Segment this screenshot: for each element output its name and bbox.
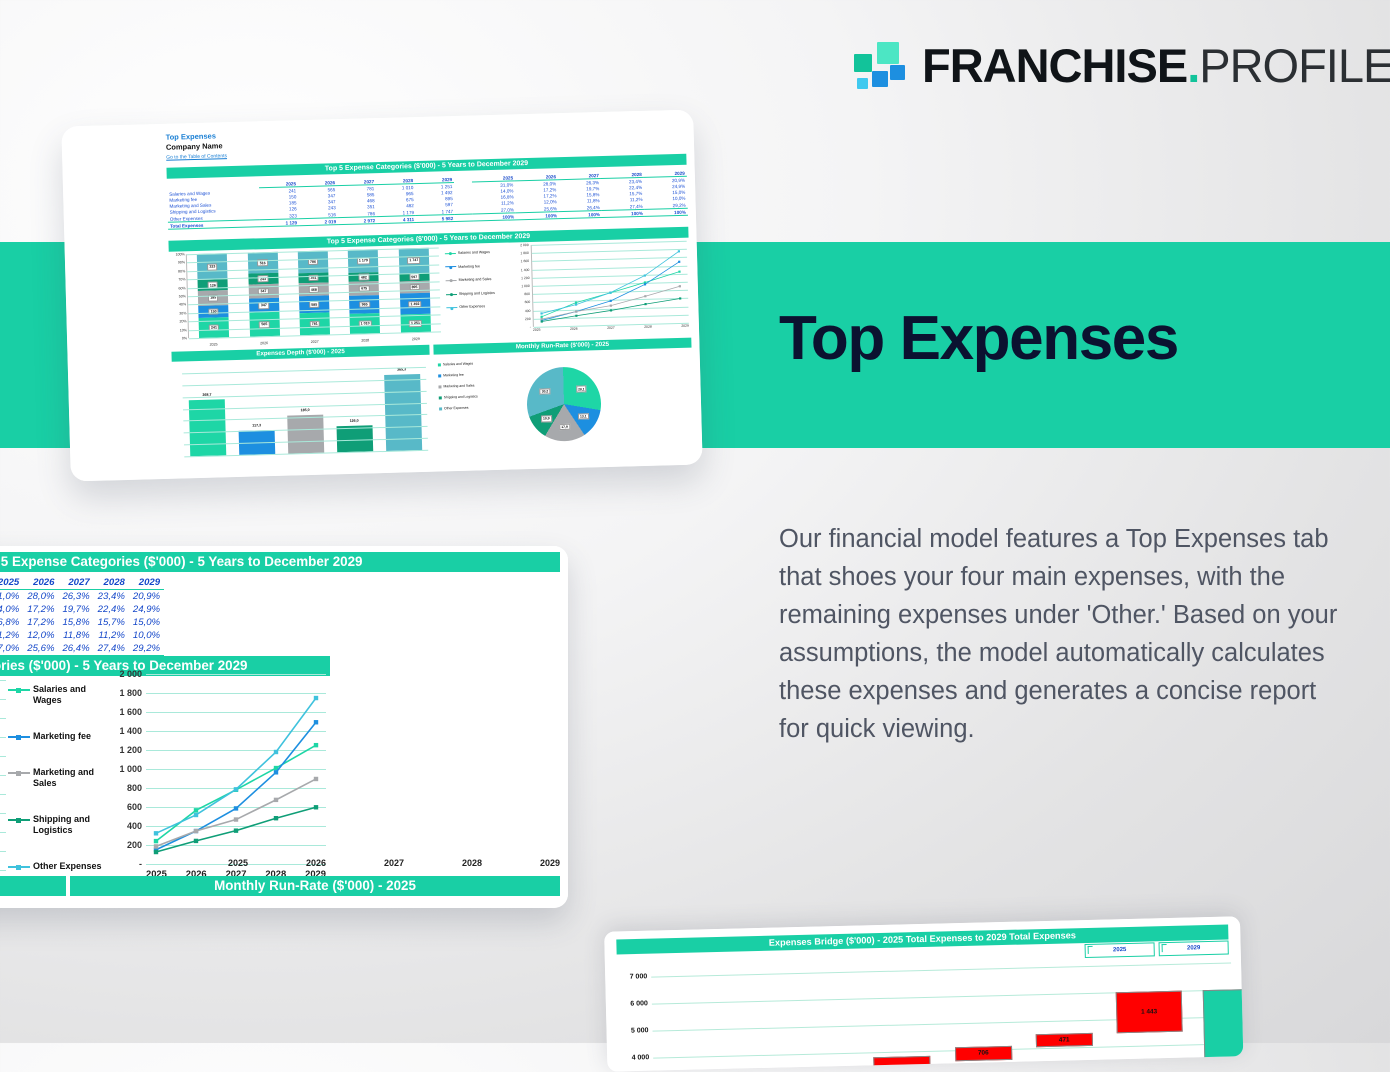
screenshot-card-expense-detail: Top 5 Expense Categories ($'000) - 5 Yea… (0, 546, 568, 908)
footer-year-row: 20252026202720282029 (228, 858, 560, 868)
banner-expenses-depth-b: ses Depth ($'000) - 2025 (0, 876, 66, 896)
bridge-y-axis: 7 0006 0005 0004 000 (613, 969, 649, 1072)
bridge-bar (1203, 988, 1244, 1059)
depth-plot-area: 268,7117,3185,0126,0365,3 (182, 367, 428, 457)
line-legend-b: Salaries and WagesMarketing feeMarketing… (8, 684, 108, 897)
pie-slice-label: 28,1 (576, 386, 587, 393)
toc-link[interactable]: Go to the Table of Contents (166, 153, 227, 161)
bridge-plot-area: 7064711 443 (651, 954, 1233, 1070)
legend-item: Marketing fee (445, 263, 511, 269)
chart-monthly-run-rate-pie: Salaries and WagesMarketing feeMarketing… (434, 352, 694, 454)
chart-stacked-b: 7863514685857811 1794826759651 0101 7475… (0, 680, 6, 892)
pie-legend-item: Shipping and Logistics (439, 394, 499, 400)
legend-item-b: Salaries and Wages (8, 684, 108, 706)
logo-dot: . (1187, 39, 1199, 92)
pie-legend-item: Other Expenses (439, 405, 499, 411)
logo-light-text: PROFILES (1199, 39, 1390, 92)
bridge-bar: 471 (1036, 1033, 1093, 1047)
pie-legend: Salaries and WagesMarketing feeMarketing… (438, 361, 499, 418)
legend-item: Marketing and Sales (446, 277, 512, 283)
pie-slice-label: 13,1 (578, 413, 589, 420)
pie-legend-item: Marketing and Sales (438, 383, 498, 389)
page-title: Top Expenses (779, 308, 1178, 370)
pie-graphic: 28,113,117,910,930,2 (526, 366, 602, 442)
legend-item-b: Other Expenses (8, 861, 108, 872)
chart-expenses-depth: 268,7117,3185,0126,0365,3 (172, 359, 432, 461)
legend-item: Other Expenses (446, 304, 512, 310)
bridge-bar (874, 1056, 931, 1067)
body-description: Our financial model features a Top Expen… (779, 520, 1349, 748)
line-plot-a (531, 241, 689, 327)
line-plot-b (146, 674, 326, 864)
stacked-plot-area: 3231261851502415162433473475657863514685… (186, 247, 441, 338)
pie-slice-label: 17,9 (559, 424, 570, 431)
expense-table-a: 2025202620272028202920252026202720282029… (167, 170, 688, 230)
logo-bold-text: FRANCHISE (922, 39, 1187, 92)
line-legend-a: Salaries and WagesMarketing feeMarketing… (445, 249, 513, 319)
sheet-title: Top Expenses Company Name (166, 131, 223, 153)
legend-item-b: Marketing and Sales (8, 767, 108, 789)
legend-item-b: Marketing fee (8, 731, 108, 742)
depth-bar: 185,0 (287, 414, 324, 453)
line-y-axis-b: 2 0001 8001 6001 4001 2001 0008006004002… (104, 674, 142, 864)
banner-expense-categories-b2: Top 5 Expense Categories ($'000) - 5 Yea… (0, 656, 330, 676)
pie-legend-item: Salaries and Wages (438, 361, 498, 367)
banner-monthly-run-rate-b: Monthly Run-Rate ($'000) - 2025 (70, 876, 560, 896)
chart-stacked-100: 100%90%80%70%60%50%40%30%20%10%0% 323126… (169, 247, 441, 347)
logo-squares-icon (852, 38, 904, 92)
legend-item: Salaries and Wages (445, 249, 511, 255)
legend-item: Shipping and Logistics (446, 290, 512, 296)
pie-slice-label: 10,9 (541, 415, 552, 422)
legend-item-b: Shipping and Logistics (8, 814, 108, 836)
brand-logo: FRANCHISE.PROFILES (852, 38, 1390, 92)
banner-expense-categories-b1: Top 5 Expense Categories ($'000) - 5 Yea… (0, 552, 560, 572)
sheet-title-line2: Company Name (166, 141, 223, 152)
stacked-y-axis: 100%90%80%70%60%50%40%30%20%10%0% (169, 254, 187, 338)
line-y-axis-a: 2 0001 8001 6001 4001 2001 0008006004002… (513, 245, 531, 327)
pie-legend-item: Marketing fee (438, 372, 498, 378)
bridge-bar: 1 443 (1116, 991, 1183, 1034)
bridge-bar: 706 (955, 1046, 1012, 1061)
logo-wordmark: FRANCHISE.PROFILES (922, 42, 1390, 89)
screenshot-card-expenses-bridge: Expenses Bridge ($'000) - 2025 Total Exp… (604, 916, 1243, 1071)
chart-line-a: Salaries and WagesMarketing feeMarketing… (445, 241, 691, 341)
sheet-title-line1: Top Expenses (166, 131, 217, 141)
screenshot-card-top-expenses-sheet: Top Expenses Company Name Go to the Tabl… (61, 110, 702, 482)
stacked-plot-b: 7863514685857811 1794826759651 0101 7475… (0, 680, 6, 870)
pie-slice-label: 30,2 (540, 388, 551, 395)
